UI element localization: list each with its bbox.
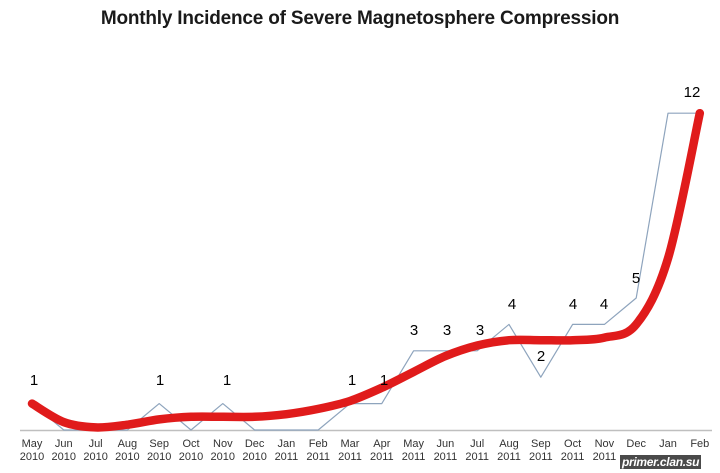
- tick-month-label: Feb: [680, 438, 720, 451]
- data-point-label-3: 1: [337, 372, 367, 389]
- watermark: primer.clan.su: [620, 455, 701, 469]
- data-point-label-11: 4: [589, 296, 619, 313]
- data-point-label-4: 1: [369, 372, 399, 389]
- data-point-label-6: 3: [432, 322, 462, 339]
- x-axis-tick-21: Feb: [680, 438, 720, 451]
- data-point-label-9: 2: [526, 348, 556, 365]
- plot-area: May2010Jun2010Jul2010Aug2010Sep2010Oct20…: [0, 0, 720, 473]
- data-point-label-5: 3: [399, 322, 429, 339]
- tick-year-label: 2011: [584, 451, 624, 464]
- data-point-label-13: 12: [677, 84, 707, 101]
- data-point-label-8: 4: [497, 296, 527, 313]
- data-point-label-12: 5: [621, 270, 651, 287]
- chart-svg: [0, 0, 720, 473]
- data-point-label-7: 3: [465, 322, 495, 339]
- data-point-label-1: 1: [145, 372, 175, 389]
- data-point-label-2: 1: [212, 372, 242, 389]
- chart-container: Monthly Incidence of Severe Magnetospher…: [0, 0, 720, 473]
- data-point-label-0: 1: [19, 372, 49, 389]
- data-point-label-10: 4: [558, 296, 588, 313]
